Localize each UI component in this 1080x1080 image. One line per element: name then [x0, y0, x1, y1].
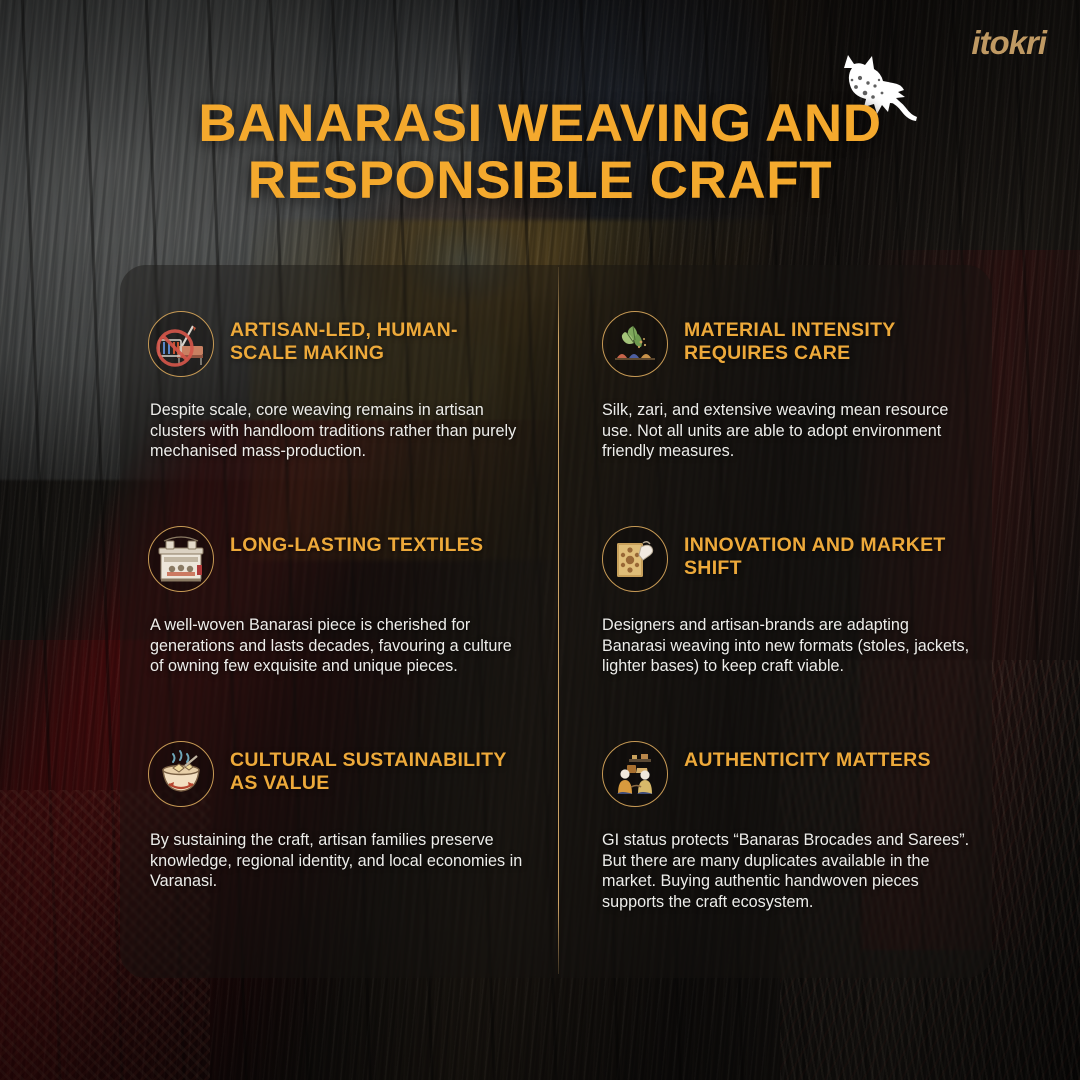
card-title: ARTISAN-LED, HUMAN-SCALE MAKING: [230, 311, 524, 365]
page-title-line-2: RESPONSIBLE CRAFT: [120, 153, 960, 210]
no-machine-loom-icon: [148, 311, 214, 377]
craft-shop-icon: [148, 526, 214, 592]
card-title: MATERIAL INTENSITY REQUIRES CARE: [684, 311, 970, 365]
card-body: Designers and artisan-brands are adaptin…: [602, 615, 970, 677]
card-header: INNOVATION AND MARKET SHIFT: [602, 526, 970, 592]
natural-dye-leaves-icon: [602, 311, 668, 377]
card-material-intensity[interactable]: MATERIAL INTENSITY REQUIRES CARE Silk, z…: [558, 265, 992, 480]
card-cultural-sustainability[interactable]: CULTURAL SUSTAINABILITY AS VALUE By sust…: [120, 695, 558, 978]
card-grid: ARTISAN-LED, HUMAN-SCALE MAKING Despite …: [120, 265, 992, 978]
page-title: BANARASI WEAVING AND RESPONSIBLE CRAFT: [0, 96, 1080, 209]
hand-holding-fabric-icon: [602, 526, 668, 592]
two-artisans-icon: [602, 741, 668, 807]
card-body: A well-woven Banarasi piece is cherished…: [150, 615, 524, 677]
card-header: CULTURAL SUSTAINABILITY AS VALUE: [148, 741, 524, 807]
card-authenticity-matters[interactable]: AUTHENTICITY MATTERS GI status protects …: [558, 695, 992, 978]
brand-logo-text: itokri: [971, 26, 1046, 59]
card-innovation-market-shift[interactable]: INNOVATION AND MARKET SHIFT Designers an…: [558, 480, 992, 695]
card-body: By sustaining the craft, artisan familie…: [150, 830, 524, 892]
card-title: CULTURAL SUSTAINABILITY AS VALUE: [230, 741, 524, 795]
brand-logo[interactable]: itokri: [971, 26, 1046, 59]
card-long-lasting-textiles[interactable]: LONG-LASTING TEXTILES A well-woven Banar…: [120, 480, 558, 695]
infographic-poster: itokri BANARASI WEAVING AND RESPONSIBLE …: [0, 0, 1080, 1080]
card-artisan-led[interactable]: ARTISAN-LED, HUMAN-SCALE MAKING Despite …: [120, 265, 558, 480]
card-title: INNOVATION AND MARKET SHIFT: [684, 526, 970, 580]
card-body: Silk, zari, and extensive weaving mean r…: [602, 400, 970, 462]
card-title: LONG-LASTING TEXTILES: [230, 526, 483, 557]
card-header: AUTHENTICITY MATTERS: [602, 741, 970, 807]
page-title-line-1: BANARASI WEAVING AND: [198, 94, 881, 153]
card-title: AUTHENTICITY MATTERS: [684, 741, 931, 772]
card-header: ARTISAN-LED, HUMAN-SCALE MAKING: [148, 311, 524, 377]
dye-pot-icon: [148, 741, 214, 807]
card-header: MATERIAL INTENSITY REQUIRES CARE: [602, 311, 970, 377]
card-body: Despite scale, core weaving remains in a…: [150, 400, 524, 462]
card-header: LONG-LASTING TEXTILES: [148, 526, 524, 592]
card-body: GI status protects “Banaras Brocades and…: [602, 830, 970, 913]
